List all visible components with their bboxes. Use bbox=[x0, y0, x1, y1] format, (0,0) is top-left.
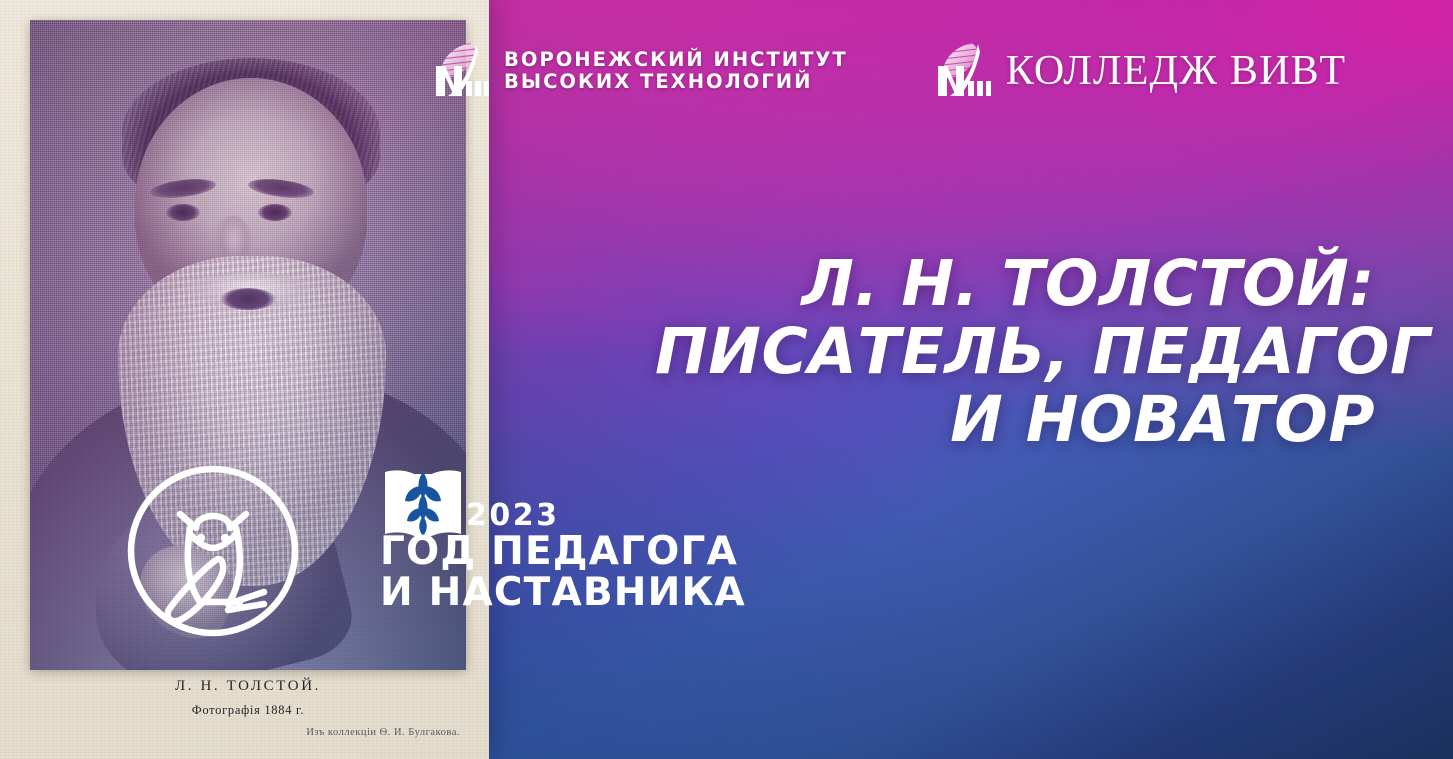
caption-subject-name: Л. Н. ТОЛСТОЙ. bbox=[30, 678, 466, 695]
title-line-2: ПИСАТЕЛЬ, ПЕДАГОГ bbox=[655, 318, 1375, 386]
emblem-title-line-1: ГОД ПЕДАГОГА bbox=[380, 529, 738, 574]
vivt-monogram-icon bbox=[934, 40, 994, 102]
title-line-1: Л. Н. ТОЛСТОЙ: bbox=[655, 250, 1375, 318]
logo-college-vivt[interactable]: КОЛЛЕДЖ ВИВТ bbox=[934, 40, 1346, 102]
college-vivt-name: КОЛЛЕДЖ ВИВТ bbox=[1006, 50, 1346, 92]
vivt-name-line-2: Высоких технологий bbox=[504, 71, 848, 93]
vivt-monogram-icon bbox=[432, 40, 492, 102]
slide-title: Л. Н. ТОЛСТОЙ: ПИСАТЕЛЬ, ПЕДАГОГ И НОВАТ… bbox=[655, 250, 1375, 454]
portrait-panel: Л. Н. ТОЛСТОЙ. Фотографія 1884 г. Изъ ко… bbox=[0, 0, 489, 759]
logo-bar: Воронежский институт Высоких технологий bbox=[432, 40, 1346, 102]
vivt-institute-name: Воронежский институт Высоких технологий bbox=[504, 49, 848, 93]
presentation-slide: Л. Н. ТОЛСТОЙ. Фотографія 1884 г. Изъ ко… bbox=[0, 0, 1453, 759]
logo-vivt-institute[interactable]: Воронежский институт Высоких технологий bbox=[432, 40, 848, 102]
vivt-name-line-1: Воронежский институт bbox=[504, 49, 848, 71]
photograph-caption: Л. Н. ТОЛСТОЙ. Фотографія 1884 г. Изъ ко… bbox=[30, 678, 466, 738]
emblem-year: 2023 bbox=[466, 498, 560, 533]
caption-collection: Изъ коллекціи Ѳ. И. Булгакова. bbox=[30, 727, 466, 738]
emblem-title-line-2: И НАСТАВНИКА bbox=[380, 573, 746, 614]
emblem-title: ГОД ПЕДАГОГА И НАСТАВНИКА bbox=[380, 532, 746, 614]
year-of-teacher-emblem: 2023 ГОД ПЕДАГОГА И НАСТАВНИКА bbox=[124, 462, 634, 642]
caption-date: Фотографія 1884 г. bbox=[30, 703, 466, 718]
owl-icon bbox=[124, 462, 302, 640]
title-line-3: И НОВАТОР bbox=[655, 386, 1375, 454]
